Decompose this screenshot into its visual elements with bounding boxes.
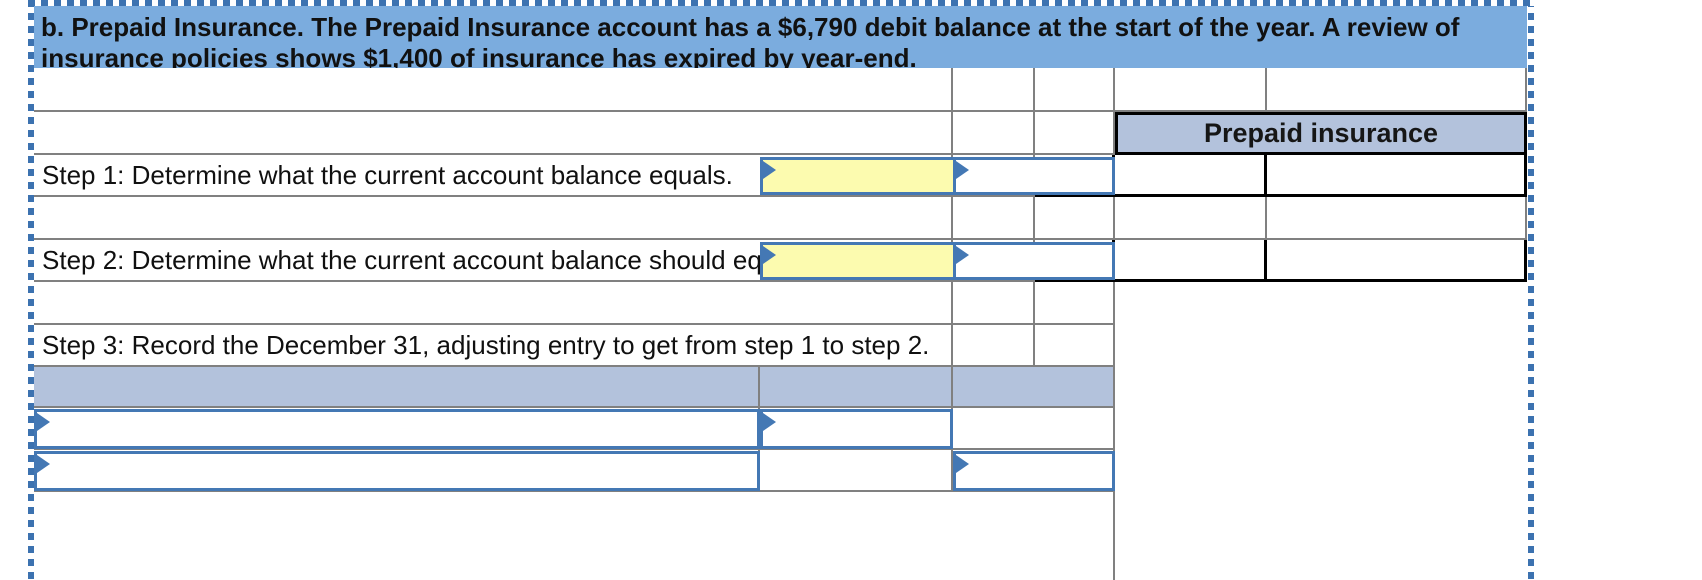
cell-dropdown-marker-icon bbox=[763, 246, 776, 264]
row5-col5 bbox=[1267, 197, 1527, 240]
row2-col2 bbox=[953, 68, 1035, 112]
step2-label: Step 2: Determine what the current accou… bbox=[42, 245, 804, 276]
cell-dropdown-marker-icon bbox=[37, 455, 50, 473]
selection-border-left bbox=[28, 0, 34, 580]
worksheet-canvas: b. Prepaid Insurance. The Prepaid Insura… bbox=[0, 0, 1702, 580]
journal-row1-col3 bbox=[953, 408, 1115, 450]
row7-col3 bbox=[1035, 282, 1115, 325]
cell-dropdown-marker-icon bbox=[37, 413, 50, 431]
row5-col1 bbox=[34, 197, 953, 240]
step1-amount-yellow-input[interactable] bbox=[760, 157, 953, 195]
journal-line1-account-input[interactable] bbox=[34, 409, 760, 449]
step1-amount-white-input[interactable] bbox=[953, 157, 1115, 195]
row5-col4 bbox=[1115, 197, 1267, 240]
row2-col5 bbox=[1267, 68, 1527, 112]
step2-col5 bbox=[1267, 240, 1527, 282]
step1-col5 bbox=[1267, 155, 1527, 197]
cell-dropdown-marker-icon bbox=[956, 246, 969, 264]
question-banner-text: b. Prepaid Insurance. The Prepaid Insura… bbox=[34, 6, 1527, 74]
selection-border-top bbox=[28, 0, 1534, 6]
step3-label: Step 3: Record the December 31, adjustin… bbox=[42, 330, 929, 361]
row3-col2 bbox=[953, 112, 1035, 155]
row7-col1 bbox=[34, 282, 953, 325]
row2-col1 bbox=[34, 68, 953, 112]
step1-col4 bbox=[1115, 155, 1267, 197]
cell-dropdown-marker-icon bbox=[763, 413, 776, 431]
question-banner-cell: b. Prepaid Insurance. The Prepaid Insura… bbox=[34, 6, 1527, 68]
journal-header-band-col2 bbox=[760, 367, 953, 408]
journal-line2-account-input[interactable] bbox=[34, 451, 760, 491]
row2-col4 bbox=[1115, 68, 1267, 112]
row2-col3 bbox=[1035, 68, 1115, 112]
step2-col4 bbox=[1115, 240, 1267, 282]
prepaid-insurance-header-label: Prepaid insurance bbox=[1118, 115, 1524, 152]
cell-dropdown-marker-icon bbox=[763, 161, 776, 179]
step2-amount-white-input[interactable] bbox=[953, 242, 1115, 280]
row7-col2 bbox=[953, 282, 1035, 325]
prepaid-insurance-header-cell: Prepaid insurance bbox=[1115, 112, 1527, 155]
selection-border-right bbox=[1528, 0, 1534, 580]
step3-label-cell: Step 3: Record the December 31, adjustin… bbox=[34, 325, 953, 367]
journal-line1-debit-input[interactable] bbox=[760, 409, 953, 449]
row3-col3 bbox=[1035, 112, 1115, 155]
step3-col3 bbox=[1035, 325, 1115, 367]
cell-dropdown-marker-icon bbox=[956, 455, 969, 473]
row5-col3 bbox=[1035, 197, 1115, 240]
step2-amount-yellow-input[interactable] bbox=[760, 242, 953, 280]
journal-line2-credit-input[interactable] bbox=[953, 451, 1115, 491]
journal-header-band-col1 bbox=[34, 367, 760, 408]
row5-col2 bbox=[953, 197, 1035, 240]
cell-dropdown-marker-icon bbox=[956, 161, 969, 179]
step3-col2 bbox=[953, 325, 1035, 367]
journal-header-band-col3 bbox=[953, 367, 1115, 408]
row12-col1 bbox=[34, 492, 1115, 580]
row3-col1 bbox=[34, 112, 953, 155]
journal-row2-col2 bbox=[760, 450, 953, 492]
step1-label: Step 1: Determine what the current accou… bbox=[42, 160, 733, 191]
